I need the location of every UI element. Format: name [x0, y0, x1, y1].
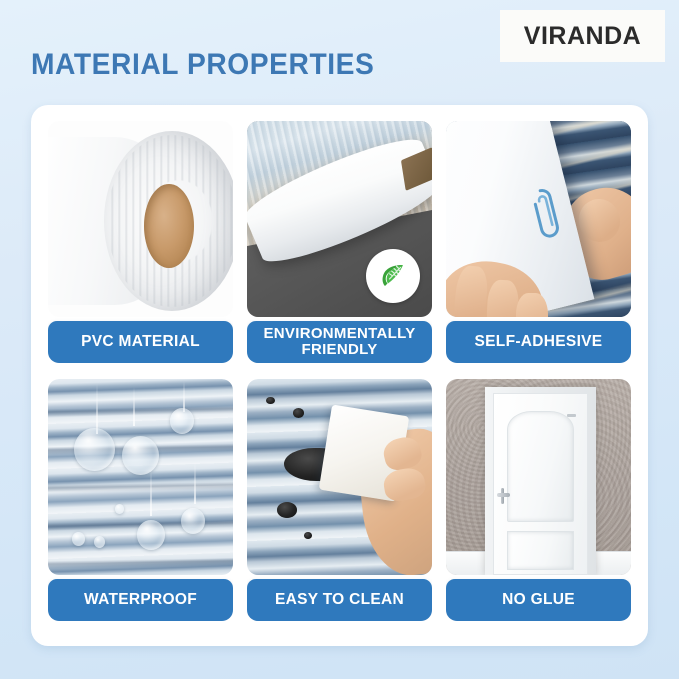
droplet-trail	[150, 469, 152, 516]
stain-spot	[277, 502, 297, 518]
door-panel-top	[507, 411, 574, 522]
feature-label-no-glue: NO GLUE	[446, 579, 631, 621]
feature-tile-pvc-material[interactable]: PVC MATERIAL	[48, 121, 233, 363]
feature-label-self-adhesive: SELF-ADHESIVE	[446, 321, 631, 363]
feature-tile-easy-to-clean[interactable]: EASY TO CLEAN	[247, 379, 432, 621]
door-panel-bottom	[507, 531, 574, 571]
water-droplet	[170, 408, 194, 433]
water-droplet	[115, 504, 124, 514]
white-door-photo	[446, 379, 631, 575]
peeling-backing-photo	[446, 121, 631, 317]
page-title: MATERIAL PROPERTIES	[31, 48, 374, 82]
water-droplet	[94, 536, 105, 548]
droplet-trail	[133, 387, 135, 426]
stain-spot	[266, 397, 275, 405]
feature-tile-waterproof[interactable]: WATERPROOF	[48, 379, 233, 621]
feature-label-waterproof: WATERPROOF	[48, 579, 233, 621]
pvc-cardboard-core	[144, 184, 194, 268]
droplet-trail	[96, 383, 98, 434]
feature-label-pvc-material: PVC MATERIAL	[48, 321, 233, 363]
feature-tile-no-glue[interactable]: NO GLUE	[446, 379, 631, 621]
door-frame	[485, 387, 596, 575]
water-droplet	[72, 532, 85, 546]
left-finger	[516, 293, 547, 317]
droplet-trail	[194, 461, 196, 504]
door-handle-lever	[497, 493, 510, 497]
brand-name: VIRANDA	[524, 22, 641, 51]
stain-spot	[304, 532, 311, 539]
water-droplet	[137, 520, 165, 549]
door-handle	[496, 488, 511, 504]
feature-grid: PVC MATERIAL	[48, 121, 631, 621]
water-droplet	[181, 508, 205, 533]
water-droplet	[122, 436, 159, 475]
eco-rolled-wallpaper-photo	[247, 121, 432, 317]
brand-logo: VIRANDA	[500, 10, 665, 62]
feature-label-environmentally-friendly: ENVIRONMENTALLY FRIENDLY	[247, 321, 432, 363]
white-door	[493, 393, 588, 575]
leaf-icon	[366, 249, 420, 303]
feature-card: PVC MATERIAL	[31, 105, 648, 646]
feature-tile-self-adhesive[interactable]: SELF-ADHESIVE	[446, 121, 631, 363]
water-droplet	[74, 428, 115, 471]
feature-tile-environmentally-friendly[interactable]: ENVIRONMENTALLY FRIENDLY	[247, 121, 432, 363]
pvc-roll-photo	[48, 121, 233, 317]
water-droplets-photo	[48, 379, 233, 575]
feature-label-easy-to-clean: EASY TO CLEAN	[247, 579, 432, 621]
door-hinge	[567, 414, 575, 417]
wiping-stain-photo	[247, 379, 432, 575]
